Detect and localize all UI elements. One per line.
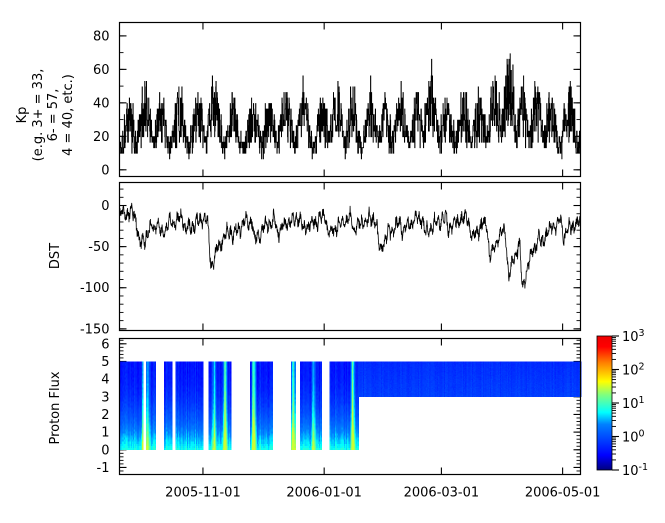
ytick-label: 0 bbox=[101, 163, 109, 178]
spectrogram-cell bbox=[155, 448, 156, 450]
space-weather-figure: Kp (e.g. 3+ = 33, 6- = 57, 4 = 40, etc.)… bbox=[0, 0, 665, 523]
dst-ylabel: DST bbox=[48, 243, 63, 269]
spectrogram-cell bbox=[202, 448, 203, 450]
ytick-label: -100 bbox=[80, 281, 110, 296]
spectrogram-cell bbox=[142, 448, 143, 450]
kp-ylabel-line-3: 4 = 40, etc.) bbox=[61, 74, 76, 156]
kp-ylabel-line-2: 6- = 57, bbox=[46, 89, 61, 142]
kp-ylabel-line-0: Kp bbox=[15, 107, 30, 124]
ytick-label: 0 bbox=[101, 443, 109, 458]
ytick-label: 5 bbox=[101, 355, 109, 370]
ytick-label: 3 bbox=[101, 390, 109, 405]
flux-ylabel: Proton Flux bbox=[48, 371, 63, 444]
ytick-label: 2 bbox=[101, 408, 109, 423]
ytick-label: 1 bbox=[101, 426, 109, 441]
spectrogram-cell bbox=[171, 448, 172, 450]
ytick-label: -50 bbox=[88, 240, 109, 255]
kp-ylabel-line-1: (e.g. 3+ = 33, bbox=[31, 69, 46, 162]
ytick-label: 60 bbox=[93, 63, 110, 78]
ytick-label: 4 bbox=[101, 373, 109, 388]
ytick-label: 6 bbox=[101, 337, 109, 352]
ytick-label: -1 bbox=[97, 461, 110, 476]
ytick-label: 20 bbox=[93, 130, 110, 145]
ytick-label: -150 bbox=[80, 322, 110, 337]
spectrogram-cell bbox=[230, 448, 231, 450]
ytick-label: 0 bbox=[101, 199, 109, 214]
ytick-label: 80 bbox=[93, 29, 110, 44]
ytick-label: 40 bbox=[93, 96, 110, 111]
